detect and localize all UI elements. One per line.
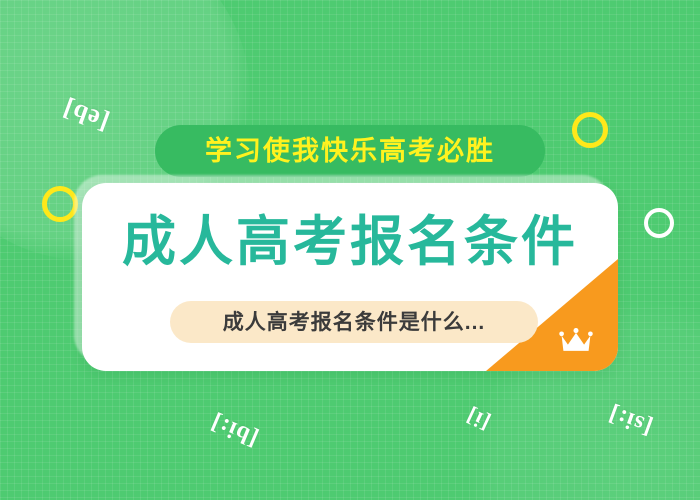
circle-ring-icon-top-right bbox=[572, 112, 608, 148]
phonetic-decoration-2: [bi:] bbox=[207, 408, 263, 452]
crown-icon bbox=[558, 327, 594, 355]
poster-canvas: [eb] [bi:] [i] [si:] 学习使我快乐高考必胜 成人高考报名条件… bbox=[0, 0, 700, 500]
subtitle-pill: 成人高考报名条件是什么... bbox=[170, 301, 538, 343]
page-title: 成人高考报名条件 bbox=[82, 215, 618, 269]
subtitle-label: 成人高考报名条件是什么... bbox=[223, 312, 486, 333]
tagline-badge: 学习使我快乐高考必胜 bbox=[155, 125, 545, 177]
circle-ring-icon-right bbox=[644, 208, 674, 238]
tagline-label: 学习使我快乐高考必胜 bbox=[205, 138, 495, 165]
main-card: 成人高考报名条件 成人高考报名条件是什么... bbox=[82, 183, 618, 371]
main-card-wrapper: 成人高考报名条件 成人高考报名条件是什么... bbox=[82, 183, 618, 371]
circle-ring-icon-left bbox=[42, 186, 78, 222]
